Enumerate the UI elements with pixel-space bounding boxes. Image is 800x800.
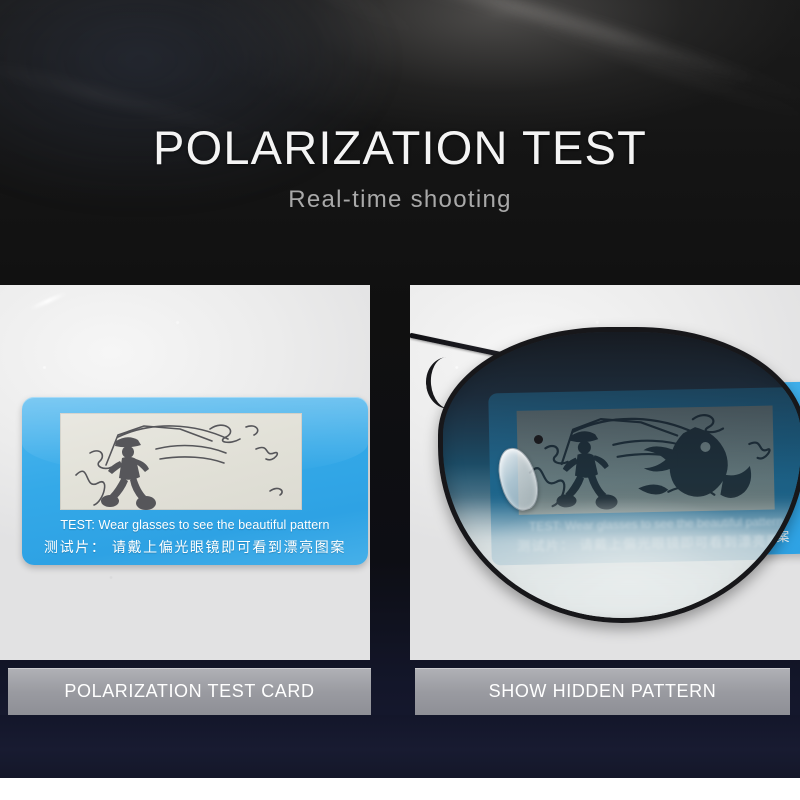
card-text-english: TEST: Wear glasses to see the beautiful …	[22, 519, 368, 532]
page-title: POLARIZATION TEST	[0, 124, 800, 171]
lens-glare	[443, 498, 800, 618]
polarized-lens: TEST: Wear glasses to see the beautiful …	[438, 327, 800, 623]
panel-show-hidden-pattern: TEST: Wear glasses to see the beautiful …	[410, 285, 800, 660]
sunglasses: TEST: Wear glasses to see the beautiful …	[438, 327, 800, 627]
caption-label: SHOW HIDDEN PATTERN	[489, 681, 717, 702]
page-subtitle: Real-time shooting	[0, 188, 800, 212]
panel-polarization-test-card: TEST: Wear glasses to see the beautiful …	[0, 285, 370, 660]
caption-label: POLARIZATION TEST CARD	[64, 681, 314, 702]
corner-glow	[0, 0, 400, 210]
nose-screw	[534, 435, 543, 444]
card-text-chinese: 测试片： 请戴上偏光眼镜即可看到漂亮图案	[22, 540, 368, 554]
card-artwork	[60, 413, 302, 510]
test-card: TEST: Wear glasses to see the beautiful …	[22, 397, 368, 565]
light-streak	[477, 0, 800, 106]
fisherman-line-art-icon	[60, 413, 302, 510]
light-streak	[528, 18, 800, 129]
polarization-test-banner: POLARIZATION TEST Real-time shooting	[0, 0, 800, 800]
footer-band	[0, 715, 800, 778]
caption-polarization-test-card: POLARIZATION TEST CARD	[8, 668, 371, 715]
footer-white-strip	[0, 778, 800, 800]
caption-show-hidden-pattern: SHOW HIDDEN PATTERN	[415, 668, 790, 715]
